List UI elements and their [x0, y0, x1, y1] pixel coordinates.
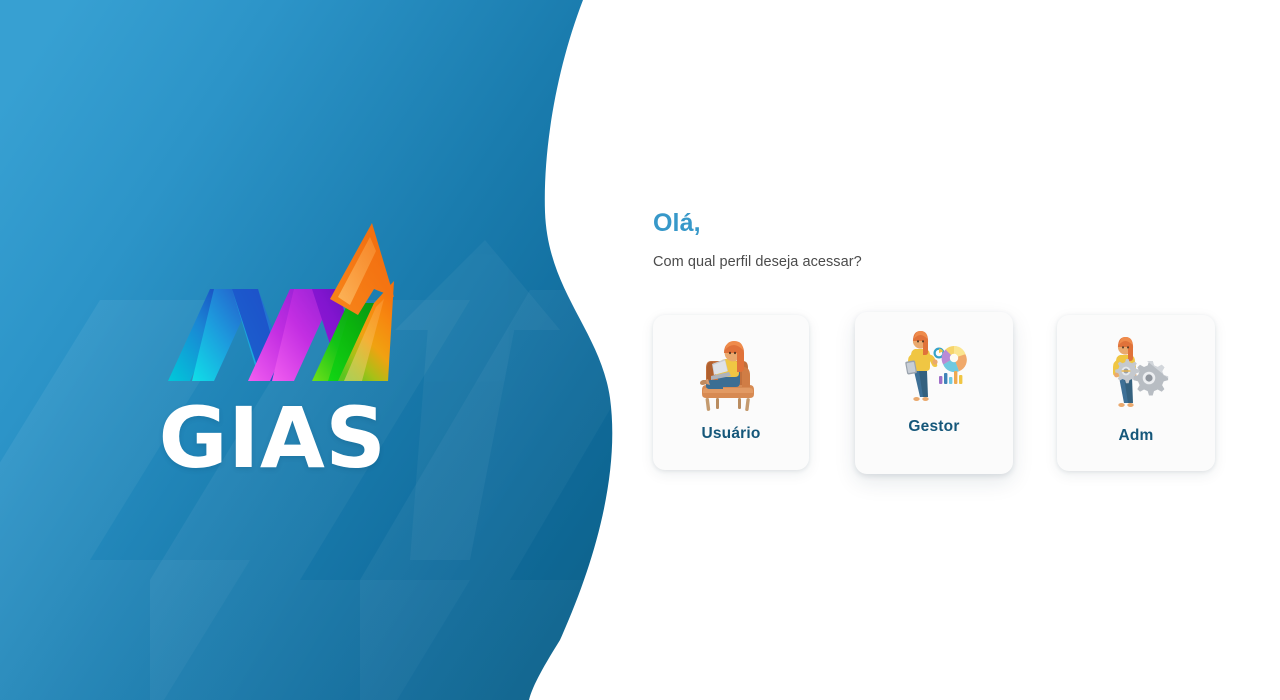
profile-card-adm[interactable]: Adm — [1057, 315, 1215, 471]
greeting-block: Olá, Com qual perfil deseja acessar? — [653, 209, 1213, 270]
page-subtitle: Com qual perfil deseja acessar? — [653, 254, 1213, 270]
woman-analyst-with-charts-icon — [897, 328, 971, 408]
profile-label-usuario: Usuário — [701, 425, 760, 443]
profile-card-gestor[interactable]: Gestor — [855, 312, 1013, 474]
woman-on-armchair-with-laptop-icon — [694, 333, 768, 413]
profile-card-list: Usuário — [653, 312, 1253, 474]
background-watermark-chevrons — [0, 290, 640, 700]
woman-with-gears-icon — [1099, 333, 1173, 413]
profile-selection-screen: GIAS Olá, Com qual perfil deseja acessar… — [0, 0, 1280, 700]
brand-panel-wave-background — [0, 0, 640, 700]
profile-card-usuario[interactable]: Usuário — [653, 315, 809, 470]
page-title: Olá, — [653, 209, 1213, 238]
profile-label-gestor: Gestor — [908, 418, 959, 436]
profile-label-adm: Adm — [1118, 427, 1153, 445]
brand-panel: GIAS — [0, 0, 640, 700]
content-panel: Olá, Com qual perfil deseja acessar? — [612, 0, 1280, 700]
